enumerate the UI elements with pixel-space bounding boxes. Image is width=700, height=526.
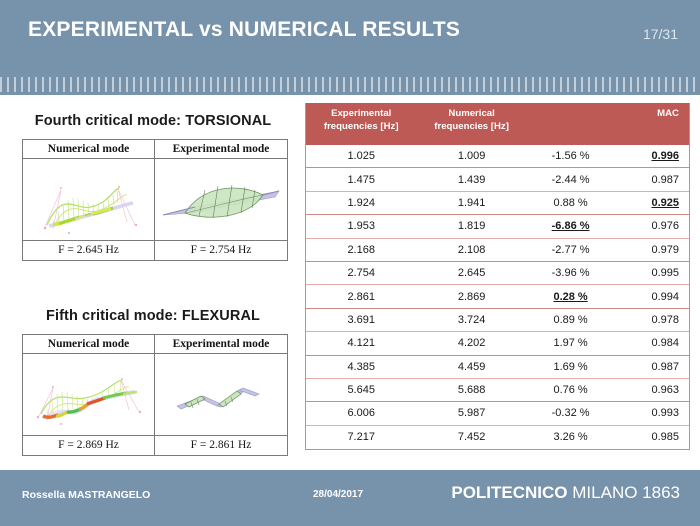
cell-difference: -1.56 % bbox=[527, 150, 615, 162]
cell-difference: 0.88 % bbox=[527, 197, 615, 209]
cell-experimental-frequency: 1.924 bbox=[306, 197, 416, 209]
brand-name-light: MILANO 1863 bbox=[572, 483, 680, 502]
cell-mac: 0.994 bbox=[614, 291, 689, 303]
cell-numerical-frequency: 1.439 bbox=[416, 174, 526, 186]
mode-comparison-column: Fourth critical mode: TORSIONAL Numerica… bbox=[0, 95, 300, 470]
mode-heading-torsional: Fourth critical mode: TORSIONAL bbox=[0, 113, 300, 129]
cell-experimental-frequency: 1.475 bbox=[306, 174, 416, 186]
highlighted-value: -6.86 % bbox=[552, 220, 590, 232]
experimental-mode-figure-cell bbox=[155, 354, 287, 436]
cell-difference: 0.28 % bbox=[527, 291, 615, 303]
cell-numerical-frequency: 7.452 bbox=[416, 431, 526, 443]
cell-difference: -6.86 % bbox=[527, 220, 615, 232]
striped-divider-band bbox=[0, 70, 700, 95]
numerical-frequency-value: F = 2.645 Hz bbox=[23, 241, 155, 260]
table-row: 2.8612.8690.28 %0.994 bbox=[306, 285, 689, 308]
header-line-1: MAC bbox=[618, 108, 679, 121]
cell-experimental-frequency: 5.645 bbox=[306, 384, 416, 396]
table-row bbox=[23, 159, 287, 241]
cell-mac: 0.963 bbox=[614, 384, 689, 396]
cell-numerical-frequency: 1.819 bbox=[416, 220, 526, 232]
table-row: 4.1214.2021.97 %0.984 bbox=[306, 332, 689, 355]
cell-numerical-frequency: 5.688 bbox=[416, 384, 526, 396]
cell-numerical-frequency: 3.724 bbox=[416, 314, 526, 326]
table-row: 4.3854.4591.69 %0.987 bbox=[306, 356, 689, 379]
cell-mac: 0.995 bbox=[614, 267, 689, 279]
column-header-mac: MAC bbox=[614, 108, 689, 121]
cell-difference: 1.97 % bbox=[527, 337, 615, 349]
slide-number: 17/31 bbox=[643, 26, 678, 42]
cell-mac: 0.976 bbox=[614, 220, 689, 232]
table-row: 1.0251.009-1.56 %0.996 bbox=[306, 145, 689, 168]
cell-mac: 0.925 bbox=[614, 197, 689, 209]
cell-difference: -0.32 % bbox=[527, 407, 615, 419]
cell-difference: 0.76 % bbox=[527, 384, 615, 396]
table-row: 7.2177.4523.26 %0.985 bbox=[306, 426, 689, 449]
numerical-mode-figure-cell bbox=[23, 354, 155, 436]
footer-author: Rossella MASTRANGELO bbox=[22, 489, 150, 501]
cell-mac: 0.987 bbox=[614, 174, 689, 186]
cell-difference: 0.89 % bbox=[527, 314, 615, 326]
table-row: F = 2.869 Hz F = 2.861 Hz bbox=[23, 436, 287, 455]
results-table-header: Experimental frequencies [Hz] Numerical … bbox=[306, 103, 689, 145]
table-row: 5.6455.6880.76 %0.963 bbox=[306, 379, 689, 402]
table-row: Numerical mode Experimental mode bbox=[23, 335, 287, 354]
numerical-frequency-value: F = 2.869 Hz bbox=[23, 436, 155, 455]
cell-numerical-frequency: 4.459 bbox=[416, 361, 526, 373]
table-row: 2.7542.645-3.96 %0.995 bbox=[306, 262, 689, 285]
header-line-2: frequencies [Hz] bbox=[310, 121, 412, 134]
footer-brand: POLITECNICO MILANO 1863 bbox=[451, 483, 680, 503]
cell-numerical-frequency: 4.202 bbox=[416, 337, 526, 349]
slide-footer-bar: Rossella MASTRANGELO 28/04/2017 POLITECN… bbox=[0, 470, 700, 526]
mode-heading-flexural: Fifth critical mode: FLEXURAL bbox=[0, 308, 300, 324]
highlighted-value: 0.996 bbox=[651, 150, 679, 162]
header-line-2: frequencies [Hz] bbox=[420, 121, 522, 134]
cell-difference: -2.44 % bbox=[527, 174, 615, 186]
table-row bbox=[23, 354, 287, 436]
column-header-numerical-frequencies: Numerical frequencies [Hz] bbox=[416, 108, 526, 133]
cell-experimental-frequency: 1.025 bbox=[306, 150, 416, 162]
table-row: 1.9531.819-6.86 %0.976 bbox=[306, 215, 689, 238]
stripe-pattern bbox=[0, 77, 700, 92]
column-header-experimental: Experimental mode bbox=[155, 140, 287, 159]
experimental-frequency-value: F = 2.754 Hz bbox=[155, 241, 287, 260]
experimental-mode-figure-cell bbox=[155, 159, 287, 241]
cell-numerical-frequency: 2.869 bbox=[416, 291, 526, 303]
cell-difference: 1.69 % bbox=[527, 361, 615, 373]
cell-numerical-frequency: 1.941 bbox=[416, 197, 526, 209]
numerical-mode-figure-cell bbox=[23, 159, 155, 241]
slide-header-bar: EXPERIMENTAL vs NUMERICAL RESULTS 17/31 bbox=[0, 0, 700, 70]
cell-experimental-frequency: 2.861 bbox=[306, 291, 416, 303]
cell-experimental-frequency: 6.006 bbox=[306, 407, 416, 419]
experimental-frequency-value: F = 2.861 Hz bbox=[155, 436, 287, 455]
table-row: 1.4751.439-2.44 %0.987 bbox=[306, 168, 689, 191]
mode-section-flexural: Fifth critical mode: FLEXURAL Numerical … bbox=[0, 308, 300, 456]
cell-experimental-frequency: 4.121 bbox=[306, 337, 416, 349]
cell-experimental-frequency: 2.754 bbox=[306, 267, 416, 279]
column-header-numerical: Numerical mode bbox=[23, 335, 155, 354]
header-line-1: Experimental bbox=[310, 108, 412, 121]
bridge-mode-shape-rainbow-icon bbox=[23, 354, 155, 436]
header-line-1: Numerical bbox=[420, 108, 522, 121]
cell-mac: 0.985 bbox=[614, 431, 689, 443]
bridge-mode-shape-green-yellow-icon bbox=[23, 159, 155, 241]
cell-numerical-frequency: 5.987 bbox=[416, 407, 526, 419]
cell-mac: 0.987 bbox=[614, 361, 689, 373]
page-title: EXPERIMENTAL vs NUMERICAL RESULTS bbox=[28, 18, 460, 42]
table-row: 1.9241.9410.88 %0.925 bbox=[306, 192, 689, 215]
cell-mac: 0.984 bbox=[614, 337, 689, 349]
cell-experimental-frequency: 7.217 bbox=[306, 431, 416, 443]
cell-experimental-frequency: 4.385 bbox=[306, 361, 416, 373]
cell-difference: 3.26 % bbox=[527, 431, 615, 443]
table-row: F = 2.645 Hz F = 2.754 Hz bbox=[23, 241, 287, 260]
table-row: Numerical mode Experimental mode bbox=[23, 140, 287, 159]
torsional-lens-mesh-green-icon bbox=[155, 159, 287, 241]
highlighted-value: 0.28 % bbox=[553, 291, 587, 303]
mode-section-torsional: Fourth critical mode: TORSIONAL Numerica… bbox=[0, 113, 300, 261]
column-header-experimental-frequencies: Experimental frequencies [Hz] bbox=[306, 108, 416, 133]
cell-numerical-frequency: 1.009 bbox=[416, 150, 526, 162]
column-header-numerical: Numerical mode bbox=[23, 140, 155, 159]
flexural-zigzag-mesh-green-icon bbox=[155, 354, 287, 436]
footer-date: 28/04/2017 bbox=[313, 489, 363, 500]
table-row: 3.6913.7240.89 %0.978 bbox=[306, 309, 689, 332]
cell-numerical-frequency: 2.108 bbox=[416, 244, 526, 256]
table-row: 2.1682.108-2.77 %0.979 bbox=[306, 239, 689, 262]
brand-name-bold: POLITECNICO bbox=[451, 483, 567, 502]
cell-mac: 0.996 bbox=[614, 150, 689, 162]
cell-experimental-frequency: 1.953 bbox=[306, 220, 416, 232]
cell-difference: -3.96 % bbox=[527, 267, 615, 279]
results-table-body: 1.0251.009-1.56 %0.9961.4751.439-2.44 %0… bbox=[306, 145, 689, 449]
cell-numerical-frequency: 2.645 bbox=[416, 267, 526, 279]
cell-mac: 0.978 bbox=[614, 314, 689, 326]
highlighted-value: 0.925 bbox=[651, 197, 679, 209]
table-row: 6.0065.987-0.32 %0.993 bbox=[306, 402, 689, 425]
cell-difference: -2.77 % bbox=[527, 244, 615, 256]
cell-experimental-frequency: 3.691 bbox=[306, 314, 416, 326]
column-header-experimental: Experimental mode bbox=[155, 335, 287, 354]
cell-mac: 0.993 bbox=[614, 407, 689, 419]
results-table: Experimental frequencies [Hz] Numerical … bbox=[305, 103, 690, 450]
cell-experimental-frequency: 2.168 bbox=[306, 244, 416, 256]
cell-mac: 0.979 bbox=[614, 244, 689, 256]
mode-comparison-table-flexural: Numerical mode Experimental mode bbox=[22, 334, 288, 456]
mode-comparison-table-torsional: Numerical mode Experimental mode bbox=[22, 139, 288, 261]
